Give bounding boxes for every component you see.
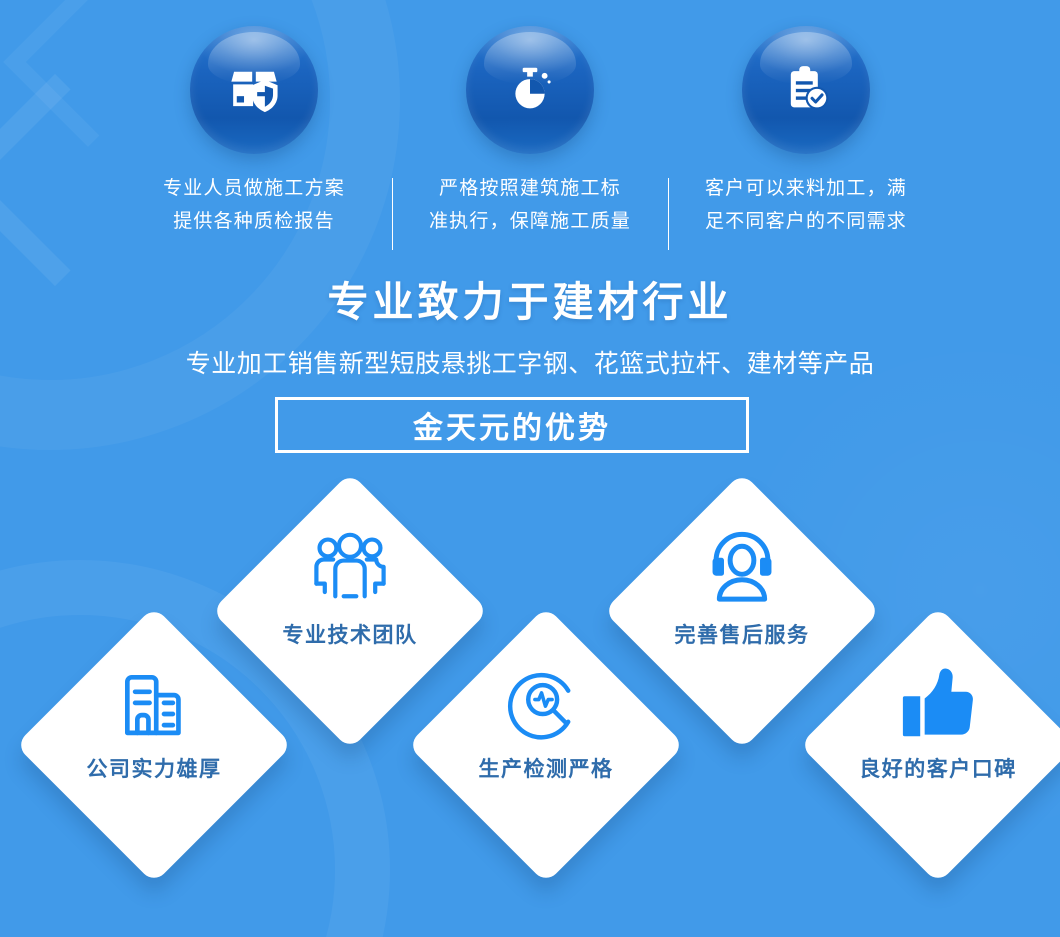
advantage-label-0: 公司实力雄厚 xyxy=(87,753,222,783)
promo-poster: 专业人员做施工方案 提供各种质检报告 严格 xyxy=(0,0,1060,937)
thumbs-up-icon xyxy=(898,661,978,747)
headline-block: 专业致力于建材行业 专业加工销售新型短肢悬挑工字钢、花篮式拉杆、建材等产品 xyxy=(0,278,1060,380)
page-title: 专业致力于建材行业 xyxy=(0,278,1060,326)
feature-item-1: 严格按照建筑施工标 准执行，保障施工质量 xyxy=(393,26,668,238)
advantage-label-1: 专业技术团队 xyxy=(283,619,418,649)
package-shield-icon xyxy=(225,59,283,122)
team-people-icon xyxy=(308,527,392,613)
inspection-search-icon xyxy=(506,661,586,747)
office-building-icon xyxy=(114,661,194,747)
page-subtitle: 专业加工销售新型短肢悬挑工字钢、花篮式拉杆、建材等产品 xyxy=(0,344,1060,380)
advantage-label-2: 生产检测严格 xyxy=(479,753,614,783)
feature-text-1: 严格按照建筑施工标 准执行，保障施工质量 xyxy=(429,172,631,238)
feature-text-line1: 严格按照建筑施工标 xyxy=(429,172,631,205)
feature-text-line2: 准执行，保障施工质量 xyxy=(429,205,631,238)
section-title-text: 金天元的优势 xyxy=(413,403,611,447)
feature-text-line2: 足不同客户的不同需求 xyxy=(705,205,907,238)
advantages-grid: 公司实力雄厚 专业技 xyxy=(0,455,1060,937)
stopwatch-icon xyxy=(504,62,556,119)
feature-item-2: 客户可以来料加工，满 足不同客户的不同需求 xyxy=(669,26,944,238)
feature-text-line1: 客户可以来料加工，满 xyxy=(705,172,907,205)
feature-text-line2: 提供各种质检报告 xyxy=(163,205,345,238)
headset-support-icon xyxy=(701,527,783,613)
feature-text-2: 客户可以来料加工，满 足不同客户的不同需求 xyxy=(705,172,907,238)
feature-row: 专业人员做施工方案 提供各种质检报告 严格 xyxy=(0,26,1060,250)
advantage-label-4: 良好的客户口碑 xyxy=(859,753,1017,783)
feature-text-line1: 专业人员做施工方案 xyxy=(163,172,345,205)
advantage-label-3: 完善售后服务 xyxy=(675,619,810,649)
feature-text-0: 专业人员做施工方案 提供各种质检报告 xyxy=(163,172,345,238)
section-title-box: 金天元的优势 xyxy=(275,397,749,453)
feature-badge-0 xyxy=(190,26,318,154)
feature-badge-1 xyxy=(466,26,594,154)
feature-badge-2 xyxy=(742,26,870,154)
feature-item-0: 专业人员做施工方案 提供各种质检报告 xyxy=(117,26,392,238)
clipboard-check-icon xyxy=(779,61,833,120)
